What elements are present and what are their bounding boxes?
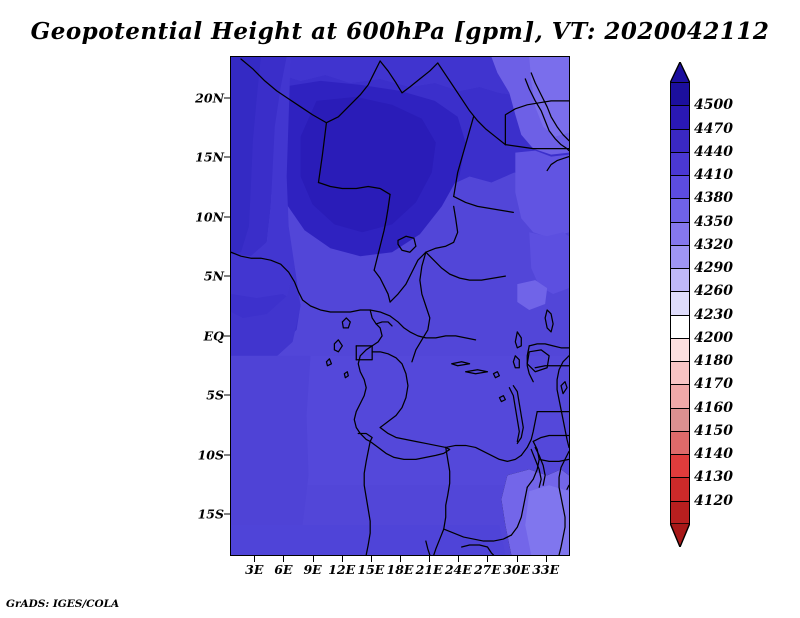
latitude-tick-mark: [224, 395, 230, 396]
colorbar-tick-label: 4180: [694, 353, 733, 369]
longitude-tick-mark: [254, 556, 255, 562]
longitude-tick-label: 9E: [303, 562, 321, 577]
colorbar-segment: [671, 83, 689, 106]
colorbar-tick-label: 4120: [694, 493, 733, 509]
longitude-tick-label: 24E: [445, 562, 472, 577]
longitude-tick-mark: [342, 556, 343, 562]
attribution-footer: GrADS: IGES/COLA: [6, 598, 119, 610]
colorbar-segment: [671, 455, 689, 478]
colorbar-tick-label: 4470: [694, 121, 733, 137]
colorbar-tick-label: 4140: [694, 446, 733, 462]
latitude-tick-label: 20N: [195, 90, 224, 105]
longitude-tick-mark: [313, 556, 314, 562]
colorbar-segment: [671, 316, 689, 339]
latitude-tick-label: 10N: [195, 209, 224, 224]
colorbar-tick-label: 4150: [694, 423, 733, 439]
colorbar-tick-label: 4380: [694, 190, 733, 206]
colorbar-segment: [671, 153, 689, 176]
coastline-and-border-overlay: [231, 57, 569, 555]
colorbar-tick-label: 4170: [694, 376, 733, 392]
colorbar-tick-label: 4350: [694, 214, 733, 230]
colorbar-segment: [671, 223, 689, 246]
latitude-tick-mark: [224, 335, 230, 336]
colorbar-segment: [671, 199, 689, 222]
colorbar-labels: 4500447044404410438043504320429042604230…: [694, 82, 794, 524]
latitude-tick-label: 5N: [204, 269, 224, 284]
figure-canvas: Geopotential Height at 600hPa [gpm], VT:…: [0, 0, 800, 618]
longitude-tick-mark: [429, 556, 430, 562]
longitude-tick-label: 6E: [274, 562, 292, 577]
colorbar-tick-label: 4410: [694, 167, 733, 183]
longitude-tick-mark: [517, 556, 518, 562]
longitude-tick-mark: [283, 556, 284, 562]
latitude-tick-mark: [224, 97, 230, 98]
latitude-tick-label: 10S: [198, 447, 224, 462]
longitude-tick-mark: [400, 556, 401, 562]
latitude-tick-mark: [224, 454, 230, 455]
latitude-axis: 20N15N10N5NEQ5S10S15S: [178, 56, 224, 556]
colorbar-tick-label: 4440: [694, 144, 733, 160]
colorbar-segment: [671, 502, 689, 525]
longitude-tick-label: 18E: [387, 562, 414, 577]
latitude-tick-label: 5S: [206, 388, 224, 403]
colorbar-tick-label: 4500: [694, 97, 733, 113]
longitude-tick-label: 12E: [328, 562, 355, 577]
longitude-tick-label: 27E: [474, 562, 501, 577]
colorbar-segment: [671, 362, 689, 385]
colorbar-tick-label: 4200: [694, 330, 733, 346]
colorbar-tick-label: 4160: [694, 400, 733, 416]
colorbar-segment: [671, 432, 689, 455]
colorbar-tick-label: 4260: [694, 283, 733, 299]
colorbar-segment: [671, 176, 689, 199]
colorbar-tick-label: 4130: [694, 469, 733, 485]
latitude-tick-mark: [224, 514, 230, 515]
longitude-tick-mark: [487, 556, 488, 562]
latitude-tick-mark: [224, 216, 230, 217]
colorbar-segment: [671, 130, 689, 153]
colorbar-tick-label: 4320: [694, 237, 733, 253]
colorbar-segment: [671, 478, 689, 501]
colorbar-tick-label: 4230: [694, 307, 733, 323]
colorbar-segment: [671, 292, 689, 315]
latitude-tick-mark: [224, 157, 230, 158]
latitude-tick-label: EQ: [204, 328, 224, 343]
colorbar-segment: [671, 269, 689, 292]
colorbar-top-arrow: [670, 62, 690, 83]
colorbar-bottom-arrow: [670, 523, 690, 547]
longitude-tick-mark: [458, 556, 459, 562]
colorbar-segment: [671, 339, 689, 362]
colorbar-segment: [671, 246, 689, 269]
map-plot-area: [230, 56, 570, 556]
longitude-tick-label: 30E: [503, 562, 530, 577]
page-title: Geopotential Height at 600hPa [gpm], VT:…: [0, 18, 800, 45]
longitude-tick-label: 33E: [532, 562, 559, 577]
colorbar-segment: [671, 409, 689, 432]
longitude-tick-label: 3E: [245, 562, 263, 577]
longitude-tick-mark: [546, 556, 547, 562]
colorbar-tick-label: 4290: [694, 260, 733, 276]
colorbar-segment: [671, 385, 689, 408]
longitude-tick-label: 15E: [357, 562, 384, 577]
colorbar[interactable]: [670, 82, 690, 524]
latitude-tick-label: 15S: [198, 507, 224, 522]
longitude-axis: 3E6E9E12E15E18E21E24E27E30E33E: [230, 562, 570, 584]
latitude-tick-mark: [224, 276, 230, 277]
latitude-tick-label: 15N: [195, 150, 224, 165]
longitude-tick-label: 21E: [416, 562, 443, 577]
colorbar-segment: [671, 106, 689, 129]
longitude-tick-mark: [371, 556, 372, 562]
